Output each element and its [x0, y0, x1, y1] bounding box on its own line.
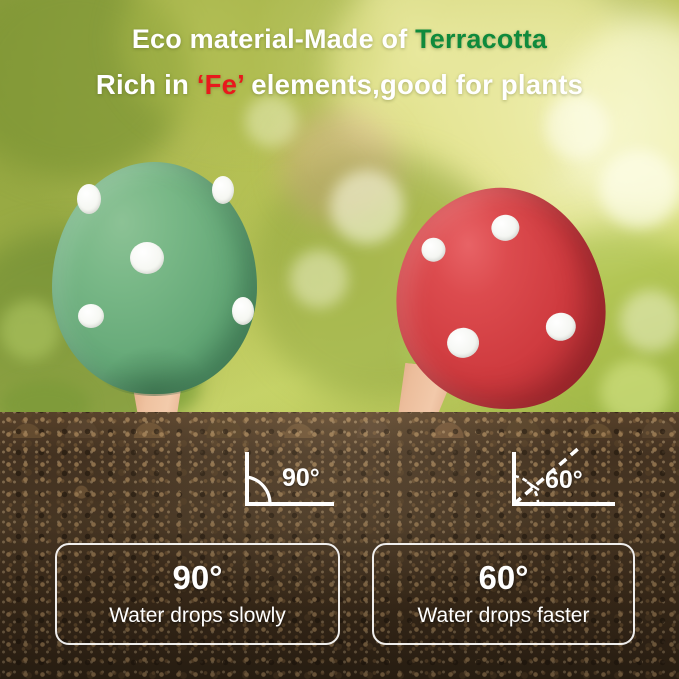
red-bulb-dot: [420, 236, 447, 263]
caption-angle-60: 60°: [374, 561, 633, 594]
green-bulb-dot: [130, 242, 164, 274]
green-bulb-dot: [212, 176, 234, 204]
caption-angle-90: 90°: [57, 561, 338, 594]
green-bulb-dot: [232, 297, 254, 325]
caption-text-90: Water drops slowly: [57, 605, 338, 626]
headline-line-2: Rich in ‘Fe’ elements,good for plants: [0, 71, 679, 99]
red-bulb-dot: [544, 311, 577, 342]
angle-marker-60: 60°: [505, 446, 613, 510]
caption-box-60: 60° Water drops faster: [372, 543, 635, 645]
headline-line-1: Eco material-Made of Terracotta: [132, 24, 547, 54]
caption-text-60: Water drops faster: [374, 605, 633, 626]
headline-fe-highlight: ‘Fe’: [197, 69, 244, 100]
angle-marker-90: 90°: [240, 448, 332, 510]
headline-line-2-suffix: elements,good for plants: [243, 69, 583, 100]
angle-marker-90-label: 90°: [282, 466, 320, 491]
green-bulb-dot: [77, 184, 101, 214]
product-feature-image: Eco material-Made of Terracotta Rich in …: [0, 0, 679, 679]
green-spike-bulb: [52, 162, 257, 394]
red-bulb-dot: [490, 213, 521, 242]
caption-box-90: 90° Water drops slowly: [55, 543, 340, 645]
headline-terracotta-highlight: Terracotta: [415, 24, 547, 54]
angle-marker-60-label: 60°: [545, 468, 583, 493]
red-bulb-dot: [445, 326, 480, 360]
headline-line-2-prefix: Rich in: [96, 69, 197, 100]
green-bulb-dot: [78, 304, 104, 328]
headline: Eco material-Made of Terracotta Rich in …: [0, 26, 679, 99]
headline-line-1-prefix: Eco material-Made of: [132, 24, 415, 54]
